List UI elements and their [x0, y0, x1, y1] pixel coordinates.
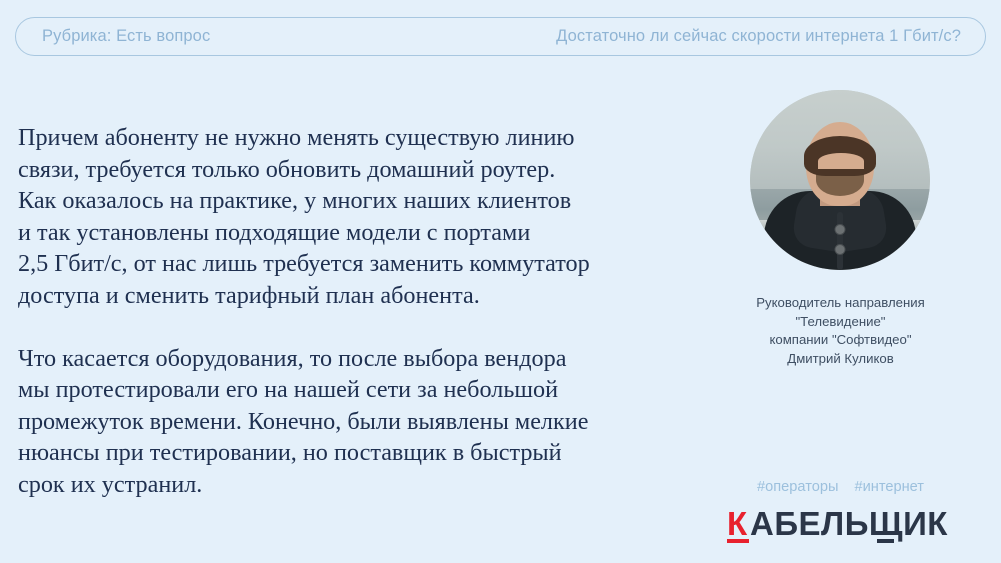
header-pill: Рубрика: Есть вопрос Достаточно ли сейча… — [15, 17, 986, 56]
logo-accent-underline — [727, 539, 749, 543]
article-body: Причем абоненту не нужно менять существу… — [18, 122, 658, 501]
logo-main-text: АБЕЛЬЩИК — [750, 505, 948, 542]
hashtag-internet[interactable]: #интернет — [855, 479, 924, 495]
kabelshchik-logo-icon: К АБЕЛЬЩИК — [727, 505, 957, 547]
speaker-photo — [750, 90, 930, 270]
hashtag-list: #операторы #интернет — [700, 479, 981, 495]
slide-canvas: Рубрика: Есть вопрос Достаточно ли сейча… — [0, 0, 1001, 563]
avatar — [750, 90, 930, 270]
hashtag-operators[interactable]: #операторы — [757, 479, 838, 495]
rubric-label: Рубрика: Есть вопрос — [42, 27, 210, 46]
rubric-question: Достаточно ли сейчас скорости интернета … — [556, 27, 963, 46]
photo-head — [806, 122, 874, 206]
brand-logo: К АБЕЛЬЩИК — [727, 505, 957, 547]
article-paragraph-1: Причем абоненту не нужно менять существу… — [18, 122, 658, 312]
photo-zipper — [837, 212, 843, 270]
logo-shcha-descender — [877, 539, 894, 543]
photo-jacket-button-2 — [836, 245, 845, 254]
photo-jacket-button-1 — [836, 225, 845, 234]
article-paragraph-2: Что касается оборудования, то после выбо… — [18, 343, 658, 501]
logo-accent-letter: К — [727, 505, 748, 542]
speaker-caption: Руководитель направления "Телевидение" к… — [700, 294, 981, 368]
photo-hair — [804, 136, 876, 176]
